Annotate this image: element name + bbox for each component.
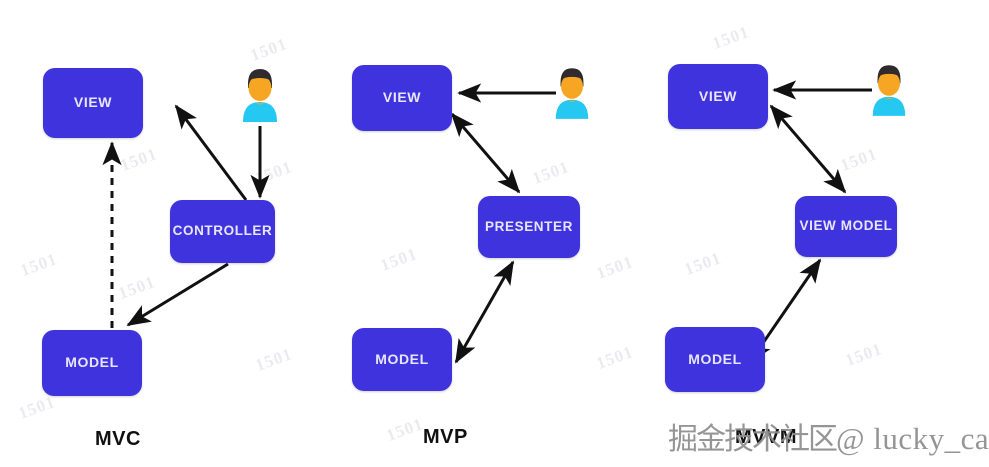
diagram-label-mvp: MVP [423, 426, 468, 449]
node-label: VIEW [74, 95, 112, 110]
node-mvvm-model[interactable]: MODEL [665, 327, 765, 392]
credit-watermark: 掘金技术社区@ lucky_cao [668, 414, 989, 458]
watermark-tile: 1501 [248, 34, 291, 66]
watermark-tile: 1501 [18, 249, 61, 281]
watermark-tile: 1501 [594, 342, 637, 374]
node-label: PRESENTER [485, 220, 573, 235]
watermark-tile: 1501 [378, 244, 421, 276]
node-label: VIEW [699, 89, 737, 104]
node-mvc-view[interactable]: VIEW [43, 68, 143, 138]
watermark-tile: 1501 [594, 252, 637, 284]
watermark-tile: 1501 [682, 248, 725, 280]
edge-mvc-controller-to-model [128, 264, 228, 325]
edge-mvp-view-presenter [452, 114, 519, 192]
edge-mvp-presenter-model [456, 262, 513, 362]
credit-community-name: 掘金技术社区 [668, 422, 836, 457]
node-mvc-model[interactable]: MODEL [42, 330, 142, 396]
user-person-icon-mvvm [868, 62, 910, 120]
user-person-icon-mvc [238, 66, 282, 126]
node-label: MODEL [375, 352, 429, 367]
edge-mvvm-view-viewmodel [771, 106, 845, 192]
node-mvvm-viewmodel[interactable]: VIEW MODEL [795, 196, 897, 257]
credit-handle: @ lucky_cao [836, 421, 989, 456]
watermark-tile: 1501 [384, 414, 427, 446]
diagram-label-mvc: MVC [95, 428, 141, 451]
watermark-tile: 1501 [253, 157, 296, 189]
node-label: MODEL [65, 355, 119, 370]
node-label: MODEL [688, 352, 742, 367]
watermark-tile: 1501 [16, 392, 59, 424]
watermark-tile: 1501 [710, 22, 753, 54]
diagram-canvas: 1501 1501 1501 1501 1501 1501 1501 1501 … [0, 0, 989, 467]
watermark-tile: 1501 [843, 339, 886, 371]
edge-mvc-controller-to-view [176, 106, 246, 200]
node-mvvm-view[interactable]: VIEW [668, 64, 768, 129]
node-mvc-controller[interactable]: CONTROLLER [170, 200, 275, 263]
node-mvp-model[interactable]: MODEL [352, 328, 452, 391]
node-label: VIEW MODEL [800, 219, 893, 234]
watermark-tile: 1501 [530, 157, 573, 189]
node-mvp-view[interactable]: VIEW [352, 65, 452, 131]
node-label: VIEW [383, 90, 421, 105]
node-mvp-presenter[interactable]: PRESENTER [478, 196, 580, 258]
watermark-tile: 1501 [118, 144, 161, 176]
node-label: CONTROLLER [173, 224, 273, 239]
user-person-icon-mvp [551, 65, 593, 123]
watermark-tile: 1501 [116, 272, 159, 304]
watermark-tile: 1501 [838, 144, 881, 176]
watermark-tile: 1501 [253, 344, 296, 376]
